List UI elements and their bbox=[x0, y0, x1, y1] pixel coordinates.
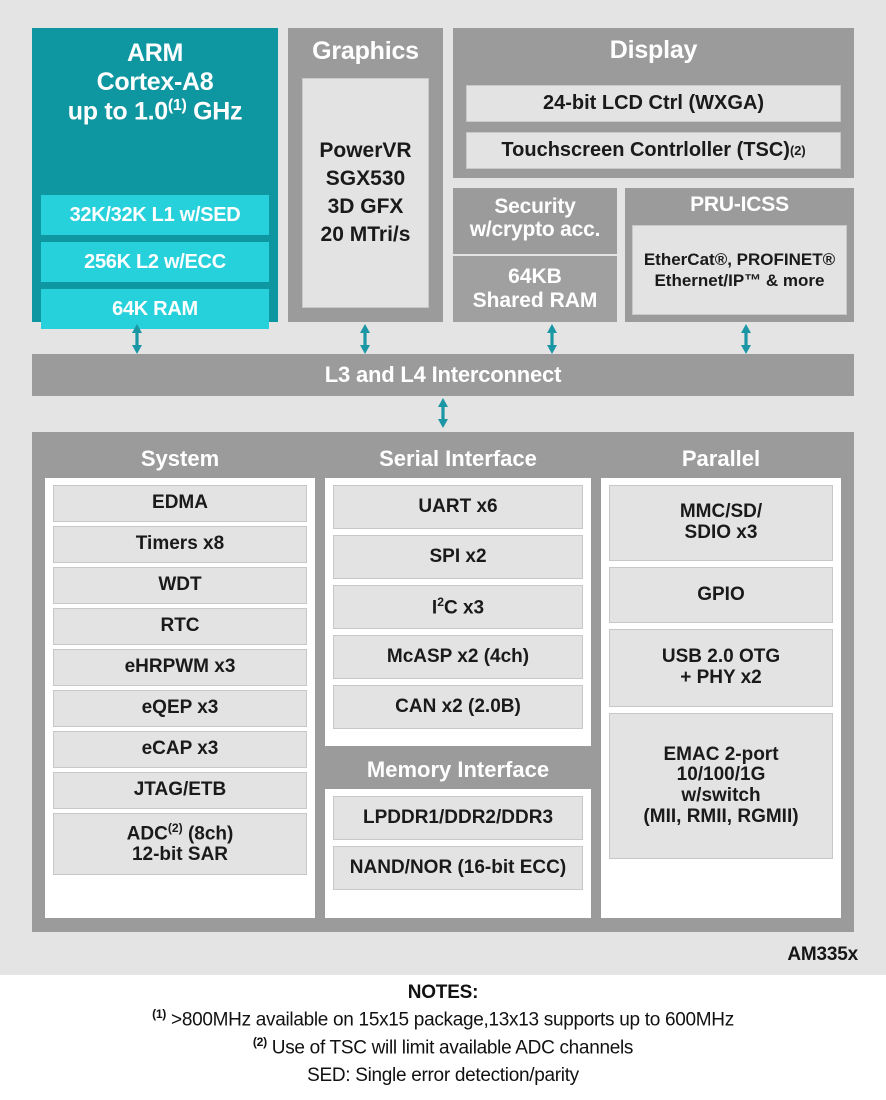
parallel-item-usb-line-2: + PHY x2 bbox=[662, 668, 780, 689]
adc-footnote-marker: (2) bbox=[168, 821, 183, 835]
display-touchscreen-footnote-marker: (2) bbox=[790, 144, 806, 158]
system-item-adc-line-1: ADC(2) (8ch) bbox=[127, 822, 234, 845]
security-block: Security w/crypto acc. 64KB Shared RAM bbox=[453, 188, 617, 322]
double-headed-arrow-icon bbox=[737, 324, 755, 354]
system-item-jtag-etb: JTAG/ETB bbox=[53, 772, 307, 809]
system-item-edma: EDMA bbox=[53, 485, 307, 522]
note-line-2: (2) Use of TSC will limit available ADC … bbox=[0, 1034, 886, 1062]
graphics-gpu-box: PowerVR SGX530 3D GFX 20 MTri/s bbox=[302, 78, 429, 308]
parallel-item-emac-line-2: 10/100/1G bbox=[643, 765, 798, 786]
serial-item-spi-label: SPI x2 bbox=[429, 547, 486, 568]
serial-item-uart-label: UART x6 bbox=[418, 497, 497, 518]
parallel-item-usb: USB 2.0 OTG + PHY x2 bbox=[609, 629, 833, 707]
pru-protocols-line-1: EtherCat®, PROFINET® bbox=[644, 249, 835, 270]
system-item-timers-label: Timers x8 bbox=[136, 534, 224, 555]
arrow-interconnect-to-peripherals bbox=[434, 398, 452, 432]
system-item-timers: Timers x8 bbox=[53, 526, 307, 563]
chip-canvas: ARM Cortex-A8 up to 1.0(1) GHz 32K/32K L… bbox=[0, 0, 886, 975]
system-item-adc-line-2: 12-bit SAR bbox=[127, 845, 234, 866]
arm-heading-line-1: ARM bbox=[32, 39, 278, 68]
parallel-item-emac-line-3: w/switch bbox=[643, 786, 798, 807]
serial-item-can: CAN x2 (2.0B) bbox=[333, 685, 583, 729]
graphics-body-line-2: SGX530 bbox=[319, 165, 411, 193]
display-block-title: Display bbox=[453, 28, 854, 63]
arrow-security-to-interconnect bbox=[543, 324, 561, 358]
note-3-text: SED: Single error detection/parity bbox=[307, 1065, 579, 1086]
note-2-text: Use of TSC will limit available ADC chan… bbox=[267, 1038, 633, 1059]
arm-ram-box: 64K RAM bbox=[41, 289, 269, 329]
pru-protocols-line-2: Ethernet/IP™ & more bbox=[644, 270, 835, 291]
l3-l4-interconnect-bar: L3 and L4 Interconnect bbox=[32, 354, 854, 396]
graphics-body-line-1: PowerVR bbox=[319, 137, 411, 165]
system-item-wdt: WDT bbox=[53, 567, 307, 604]
parallel-item-emac: EMAC 2-port 10/100/1G w/switch (MII, RMI… bbox=[609, 713, 833, 859]
system-item-eqep-label: eQEP x3 bbox=[142, 698, 219, 719]
serial-item-can-label: CAN x2 (2.0B) bbox=[395, 697, 521, 718]
arrow-arm-to-interconnect bbox=[128, 324, 146, 358]
note-1-text: >800MHz available on 15x15 package,13x13… bbox=[166, 1009, 734, 1030]
pru-icss-protocols-box: EtherCat®, PROFINET® Ethernet/IP™ & more bbox=[632, 225, 847, 315]
parallel-item-gpio: GPIO bbox=[609, 567, 833, 623]
system-item-ecap: eCAP x3 bbox=[53, 731, 307, 768]
memory-interface-column-body: LPDDR1/DDR2/DDR3 NAND/NOR (16-bit ECC) bbox=[325, 789, 591, 918]
parallel-item-emac-line-4: (MII, RMII, RGMII) bbox=[643, 807, 798, 828]
i2c-superscript: 2 bbox=[437, 595, 444, 609]
serial-interface-column-body: UART x6 SPI x2 I2C x3 McASP x2 (4ch) CAN… bbox=[325, 478, 591, 746]
double-headed-arrow-icon bbox=[543, 324, 561, 354]
arm-freq-value: up to 1.0 bbox=[68, 97, 168, 125]
notes-section: NOTES: (1) >800MHz available on 15x15 pa… bbox=[0, 982, 886, 1090]
pru-icss-block-title: PRU-ICSS bbox=[625, 188, 854, 216]
double-headed-arrow-icon bbox=[356, 324, 374, 354]
note-line-1: (1) >800MHz available on 15x15 package,1… bbox=[0, 1006, 886, 1034]
memory-interface-column-title: Memory Interface bbox=[325, 757, 591, 783]
parallel-item-mmc-sd-line-1: MMC/SD/ bbox=[680, 502, 762, 523]
parallel-column-title: Parallel bbox=[601, 446, 841, 472]
system-item-wdt-label: WDT bbox=[158, 575, 201, 596]
note-1-marker: (1) bbox=[152, 1007, 166, 1021]
serial-item-i2c-label: I2C x3 bbox=[432, 596, 484, 619]
serial-item-spi: SPI x2 bbox=[333, 535, 583, 579]
arrow-graphics-to-interconnect bbox=[356, 324, 374, 358]
security-shared-ram-box: 64KB Shared RAM bbox=[453, 254, 617, 322]
serial-interface-column-title: Serial Interface bbox=[325, 446, 591, 472]
serial-item-i2c: I2C x3 bbox=[333, 585, 583, 629]
notes-heading: NOTES: bbox=[0, 982, 886, 1004]
display-lcd-ctrl-box: 24-bit LCD Ctrl (WXGA) bbox=[466, 85, 841, 122]
system-item-ehrpwm-label: eHRPWM x3 bbox=[125, 657, 236, 678]
security-title-line-2: w/crypto acc. bbox=[453, 218, 617, 241]
pru-icss-block: PRU-ICSS EtherCat®, PROFINET® Ethernet/I… bbox=[625, 188, 854, 322]
parallel-item-usb-line-1: USB 2.0 OTG bbox=[662, 647, 780, 668]
security-shared-ram-label: Shared RAM bbox=[473, 289, 598, 313]
parallel-item-emac-line-1: EMAC 2-port bbox=[643, 745, 798, 766]
arm-freq-unit: GHz bbox=[187, 97, 243, 125]
display-touchscreen-ctrl-box: Touchscreen Contrloller (TSC)(2) bbox=[466, 132, 841, 169]
system-item-eqep: eQEP x3 bbox=[53, 690, 307, 727]
arm-cortex-block: ARM Cortex-A8 up to 1.0(1) GHz 32K/32K L… bbox=[32, 28, 278, 322]
graphics-block-title: Graphics bbox=[288, 28, 443, 64]
serial-item-mcasp-label: McASP x2 (4ch) bbox=[387, 647, 529, 668]
arm-heading-line-3: up to 1.0(1) GHz bbox=[32, 97, 278, 126]
serial-item-mcasp: McASP x2 (4ch) bbox=[333, 635, 583, 679]
security-title-line-1: Security bbox=[453, 195, 617, 218]
display-block: Display 24-bit LCD Ctrl (WXGA) Touchscre… bbox=[453, 28, 854, 178]
interconnect-label: L3 and L4 Interconnect bbox=[32, 354, 854, 386]
memory-item-nand-nor-label: NAND/NOR (16-bit ECC) bbox=[350, 858, 566, 879]
system-item-ecap-label: eCAP x3 bbox=[142, 739, 219, 760]
arm-cache-l1-box: 32K/32K L1 w/SED bbox=[41, 195, 269, 235]
arm-freq-footnote-marker: (1) bbox=[168, 97, 187, 114]
chip-part-number-label: AM335x bbox=[787, 944, 858, 966]
arrow-pru-icss-to-interconnect bbox=[737, 324, 755, 358]
peripherals-panel: System EDMA Timers x8 WDT RTC eHRPWM x3 … bbox=[32, 432, 854, 932]
serial-item-uart: UART x6 bbox=[333, 485, 583, 529]
note-line-3: SED: Single error detection/parity bbox=[0, 1063, 886, 1090]
parallel-item-mmc-sd: MMC/SD/ SDIO x3 bbox=[609, 485, 833, 561]
double-headed-arrow-icon bbox=[434, 398, 452, 428]
graphics-body-line-3: 3D GFX bbox=[319, 193, 411, 221]
arm-block-heading: ARM Cortex-A8 up to 1.0(1) GHz bbox=[32, 28, 278, 126]
system-item-rtc: RTC bbox=[53, 608, 307, 645]
system-item-adc: ADC(2) (8ch) 12-bit SAR bbox=[53, 813, 307, 875]
am335x-block-diagram: ARM Cortex-A8 up to 1.0(1) GHz 32K/32K L… bbox=[0, 0, 886, 1100]
system-column-body: EDMA Timers x8 WDT RTC eHRPWM x3 eQEP x3… bbox=[45, 478, 315, 918]
parallel-column-body: MMC/SD/ SDIO x3 GPIO USB 2.0 OTG + PHY x… bbox=[601, 478, 841, 918]
system-column-title: System bbox=[45, 446, 315, 472]
memory-item-lpddr-label: LPDDR1/DDR2/DDR3 bbox=[363, 808, 553, 829]
display-lcd-ctrl-label: 24-bit LCD Ctrl (WXGA) bbox=[543, 93, 764, 115]
parallel-item-gpio-label: GPIO bbox=[697, 585, 745, 606]
double-headed-arrow-icon bbox=[128, 324, 146, 354]
memory-item-nand-nor: NAND/NOR (16-bit ECC) bbox=[333, 846, 583, 890]
graphics-body-line-4: 20 MTri/s bbox=[319, 221, 411, 249]
system-item-jtag-etb-label: JTAG/ETB bbox=[134, 780, 227, 801]
arm-cache-l2-box: 256K L2 w/ECC bbox=[41, 242, 269, 282]
display-touchscreen-ctrl-label: Touchscreen Contrloller (TSC) bbox=[501, 140, 790, 162]
memory-item-lpddr: LPDDR1/DDR2/DDR3 bbox=[333, 796, 583, 840]
note-2-marker: (2) bbox=[253, 1035, 267, 1049]
security-block-title: Security w/crypto acc. bbox=[453, 188, 617, 241]
system-item-edma-label: EDMA bbox=[152, 493, 208, 514]
system-item-ehrpwm: eHRPWM x3 bbox=[53, 649, 307, 686]
parallel-item-mmc-sd-line-2: SDIO x3 bbox=[680, 523, 762, 544]
security-shared-ram-size: 64KB bbox=[473, 265, 598, 289]
arm-heading-line-2: Cortex-A8 bbox=[32, 68, 278, 97]
graphics-block: Graphics PowerVR SGX530 3D GFX 20 MTri/s bbox=[288, 28, 443, 322]
system-item-rtc-label: RTC bbox=[160, 616, 199, 637]
